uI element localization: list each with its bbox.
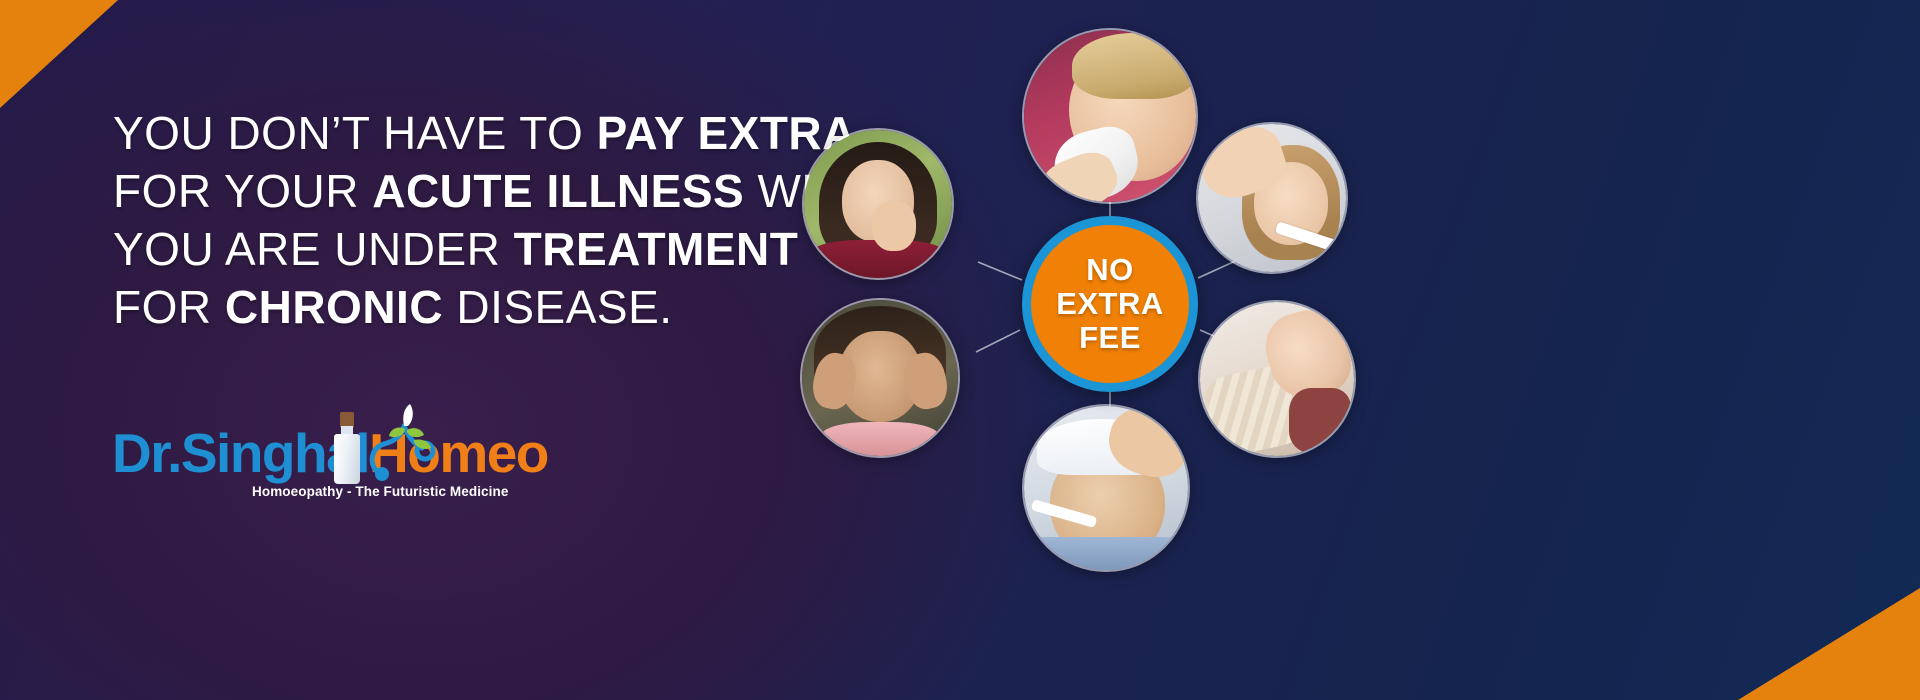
promotional-banner: YOU DON’T HAVE TO PAY EXTRA FOR YOUR ACU… (0, 0, 1920, 700)
photo-woman-headache (800, 298, 960, 458)
headline-block: YOU DON’T HAVE TO PAY EXTRA FOR YOUR ACU… (113, 104, 873, 336)
badge-line-1: NO (1086, 253, 1134, 287)
headline-line-1-light: YOU DON’T HAVE TO (113, 107, 597, 159)
headline-line-2-bold: ACUTE ILLNESS (372, 165, 744, 217)
badge-line-3: FEE (1079, 321, 1141, 355)
logo-tagline: Homoeopathy - The Futuristic Medicine (252, 484, 508, 499)
photo-boy-runny-nose (1022, 28, 1198, 204)
stethoscope-leaf-icon (364, 404, 446, 484)
headline-line-1: YOU DON’T HAVE TO PAY EXTRA (113, 104, 873, 162)
headline-line-4: FOR CHRONIC DISEASE. (113, 278, 873, 336)
headline-line-2-light: FOR YOUR (113, 165, 372, 217)
photo-man-fever (1022, 404, 1190, 572)
photo-woman-toothache (802, 128, 954, 280)
illustration-cluster: NO EXTRA FEE (870, 0, 1920, 700)
photo-girl-thermometer (1196, 122, 1348, 274)
medicine-bottle-icon (334, 412, 360, 484)
headline-line-4-bold: CHRONIC (225, 281, 443, 333)
headline-line-4-tail: DISEASE. (443, 281, 672, 333)
photo-bandaged-wrist (1198, 300, 1356, 458)
headline-line-4-light: FOR (113, 281, 225, 333)
logo-name-primary: Dr.Singhal (112, 422, 369, 484)
brand-logo[interactable]: Dr.SinghalHomeo Homoeopathy - The Futuri… (112, 404, 512, 514)
badge-line-2: EXTRA (1056, 287, 1164, 321)
no-extra-fee-badge[interactable]: NO EXTRA FEE (1022, 216, 1198, 392)
logo-wordmark: Dr.SinghalHomeo (112, 426, 548, 481)
headline-line-3-bold: TREATMENT (514, 223, 799, 275)
headline-line-3-light: YOU ARE UNDER (113, 223, 514, 275)
headline-line-2: FOR YOUR ACUTE ILLNESS WHEN (113, 162, 873, 220)
headline-line-3: YOU ARE UNDER TREATMENT (113, 220, 873, 278)
corner-accent-top-left (0, 0, 118, 108)
